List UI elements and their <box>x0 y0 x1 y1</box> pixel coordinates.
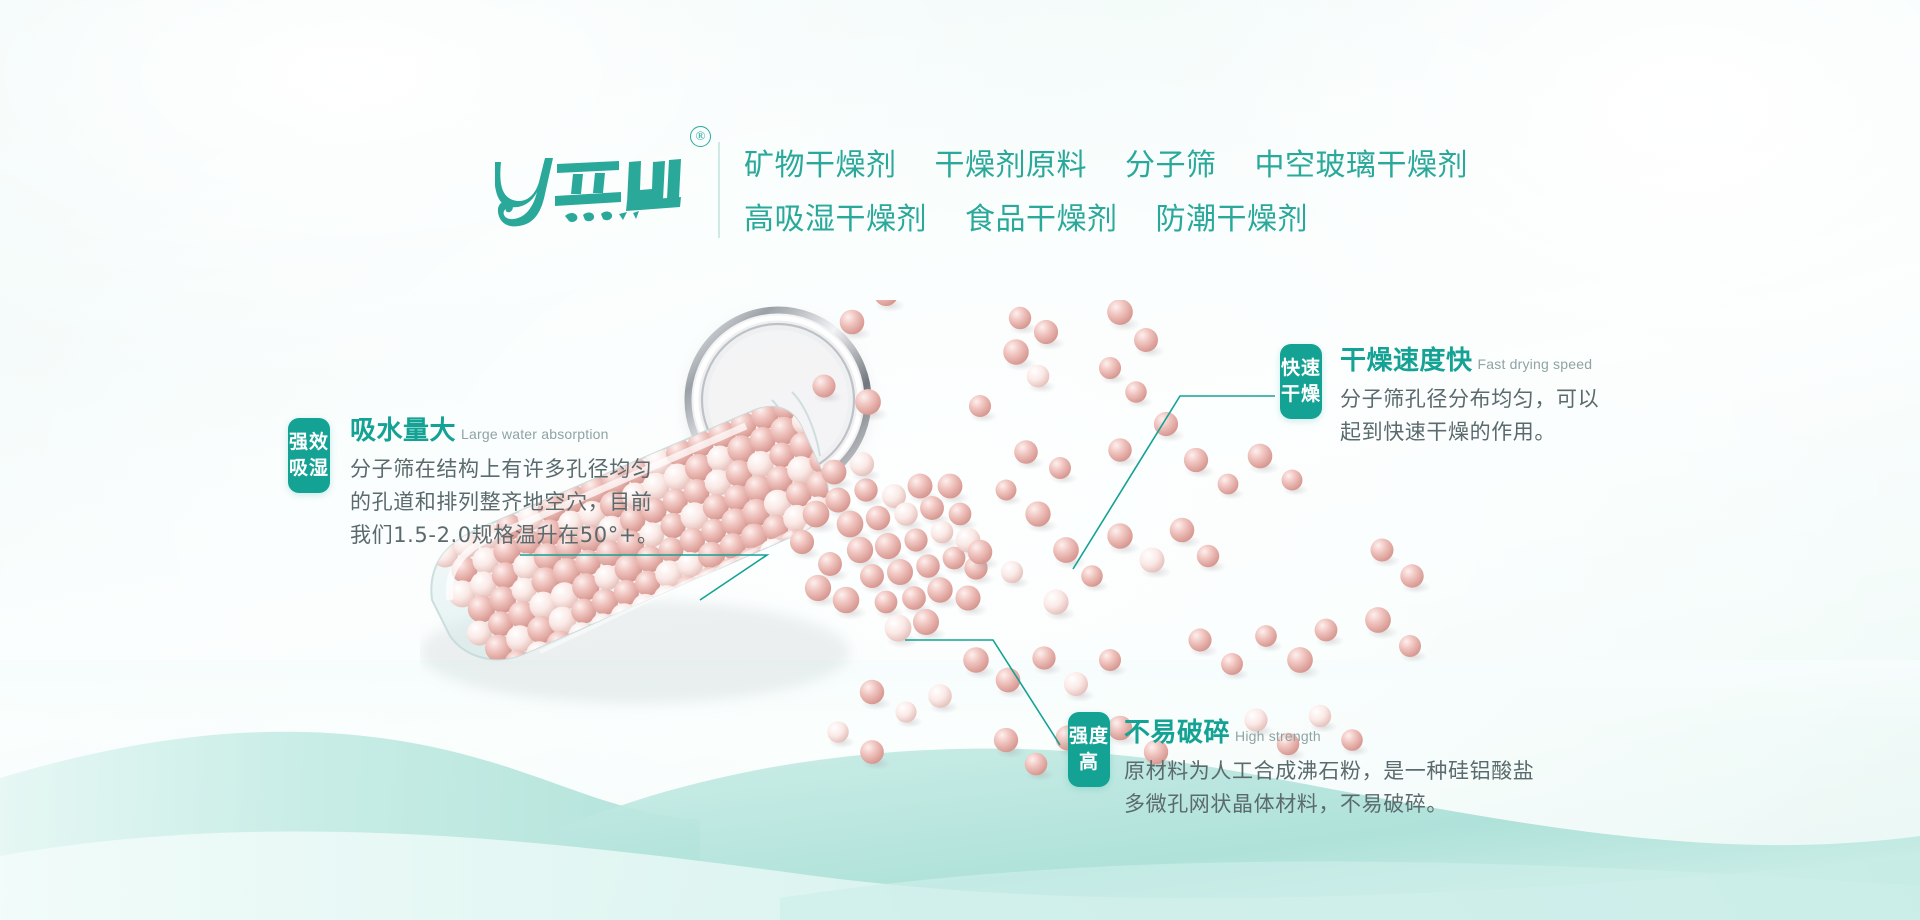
desc-line: 起到快速干燥的作用。 <box>1340 416 1599 449</box>
desc-line: 的孔道和排列整齐地空穴，目前 <box>350 486 659 519</box>
desc-line: 分子筛孔径分布均匀，可以 <box>1340 383 1599 416</box>
brand-logo[interactable]: ® <box>495 148 695 233</box>
badge-fast-drying: 快速干燥 <box>1280 344 1322 419</box>
callout-subtitle-absorption: Large water absorption <box>461 426 609 442</box>
nav-item-insulating-glass-desiccant[interactable]: 中空玻璃干燥剂 <box>1255 146 1469 186</box>
desc-line: 多微孔网状晶体材料，不易破碎。 <box>1124 788 1534 821</box>
callout-title-strength: 不易破碎 <box>1124 712 1230 749</box>
header-divider <box>718 142 720 238</box>
nav-row-2: 高吸湿干燥剂 食品干燥剂 防潮干燥剂 <box>744 200 1744 245</box>
callout-subtitle-strength: High strength <box>1235 728 1321 744</box>
desc-line: 分子筛在结构上有许多孔径均匀 <box>350 453 659 486</box>
badge-strong-moisture-absorption: 强效吸湿 <box>288 418 330 493</box>
site-header: ® 矿物干燥剂 干燥剂原料 分子筛 中空玻璃干燥剂 高吸湿干燥剂 食品干燥剂 防… <box>0 0 1920 250</box>
callout-title-absorption: 吸水量大 <box>350 410 456 447</box>
banner-stage: ® 矿物干燥剂 干燥剂原料 分子筛 中空玻璃干燥剂 高吸湿干燥剂 食品干燥剂 防… <box>0 0 1920 920</box>
desc-line: 我们1.5-2.0规格温升在50°+。 <box>350 519 659 552</box>
nav-item-food-desiccant[interactable]: 食品干燥剂 <box>965 200 1118 240</box>
nav-item-molecular-sieve[interactable]: 分子筛 <box>1125 146 1217 186</box>
callout-desc-strength: 原材料为人工合成沸石粉，是一种硅铝酸盐 多微孔网状晶体材料，不易破碎。 <box>1124 755 1534 821</box>
callout-desc-absorption: 分子筛在结构上有许多孔径均匀 的孔道和排列整齐地空穴，目前 我们1.5-2.0规… <box>350 453 659 552</box>
desc-line: 原材料为人工合成沸石粉，是一种硅铝酸盐 <box>1124 755 1534 788</box>
nav-item-moisture-proof-desiccant[interactable]: 防潮干燥剂 <box>1156 200 1309 240</box>
callout-title-speed: 干燥速度快 <box>1340 340 1473 377</box>
nav-item-desiccant-raw-material[interactable]: 干燥剂原料 <box>935 146 1088 186</box>
badge-high-strength: 强度高 <box>1068 712 1110 787</box>
callout-subtitle-speed: Fast drying speed <box>1478 356 1593 372</box>
nav-item-mineral-desiccant[interactable]: 矿物干燥剂 <box>744 146 897 186</box>
callout-desc-speed: 分子筛孔径分布均匀，可以 起到快速干燥的作用。 <box>1340 383 1599 449</box>
product-nav: 矿物干燥剂 干燥剂原料 分子筛 中空玻璃干燥剂 高吸湿干燥剂 食品干燥剂 防潮干… <box>744 146 1744 245</box>
nav-item-high-moisture-absorption-desiccant[interactable]: 高吸湿干燥剂 <box>744 200 927 240</box>
registered-trademark-icon: ® <box>690 126 711 147</box>
yaao-logo-mark <box>495 148 695 233</box>
nav-row-1: 矿物干燥剂 干燥剂原料 分子筛 中空玻璃干燥剂 <box>744 146 1744 191</box>
